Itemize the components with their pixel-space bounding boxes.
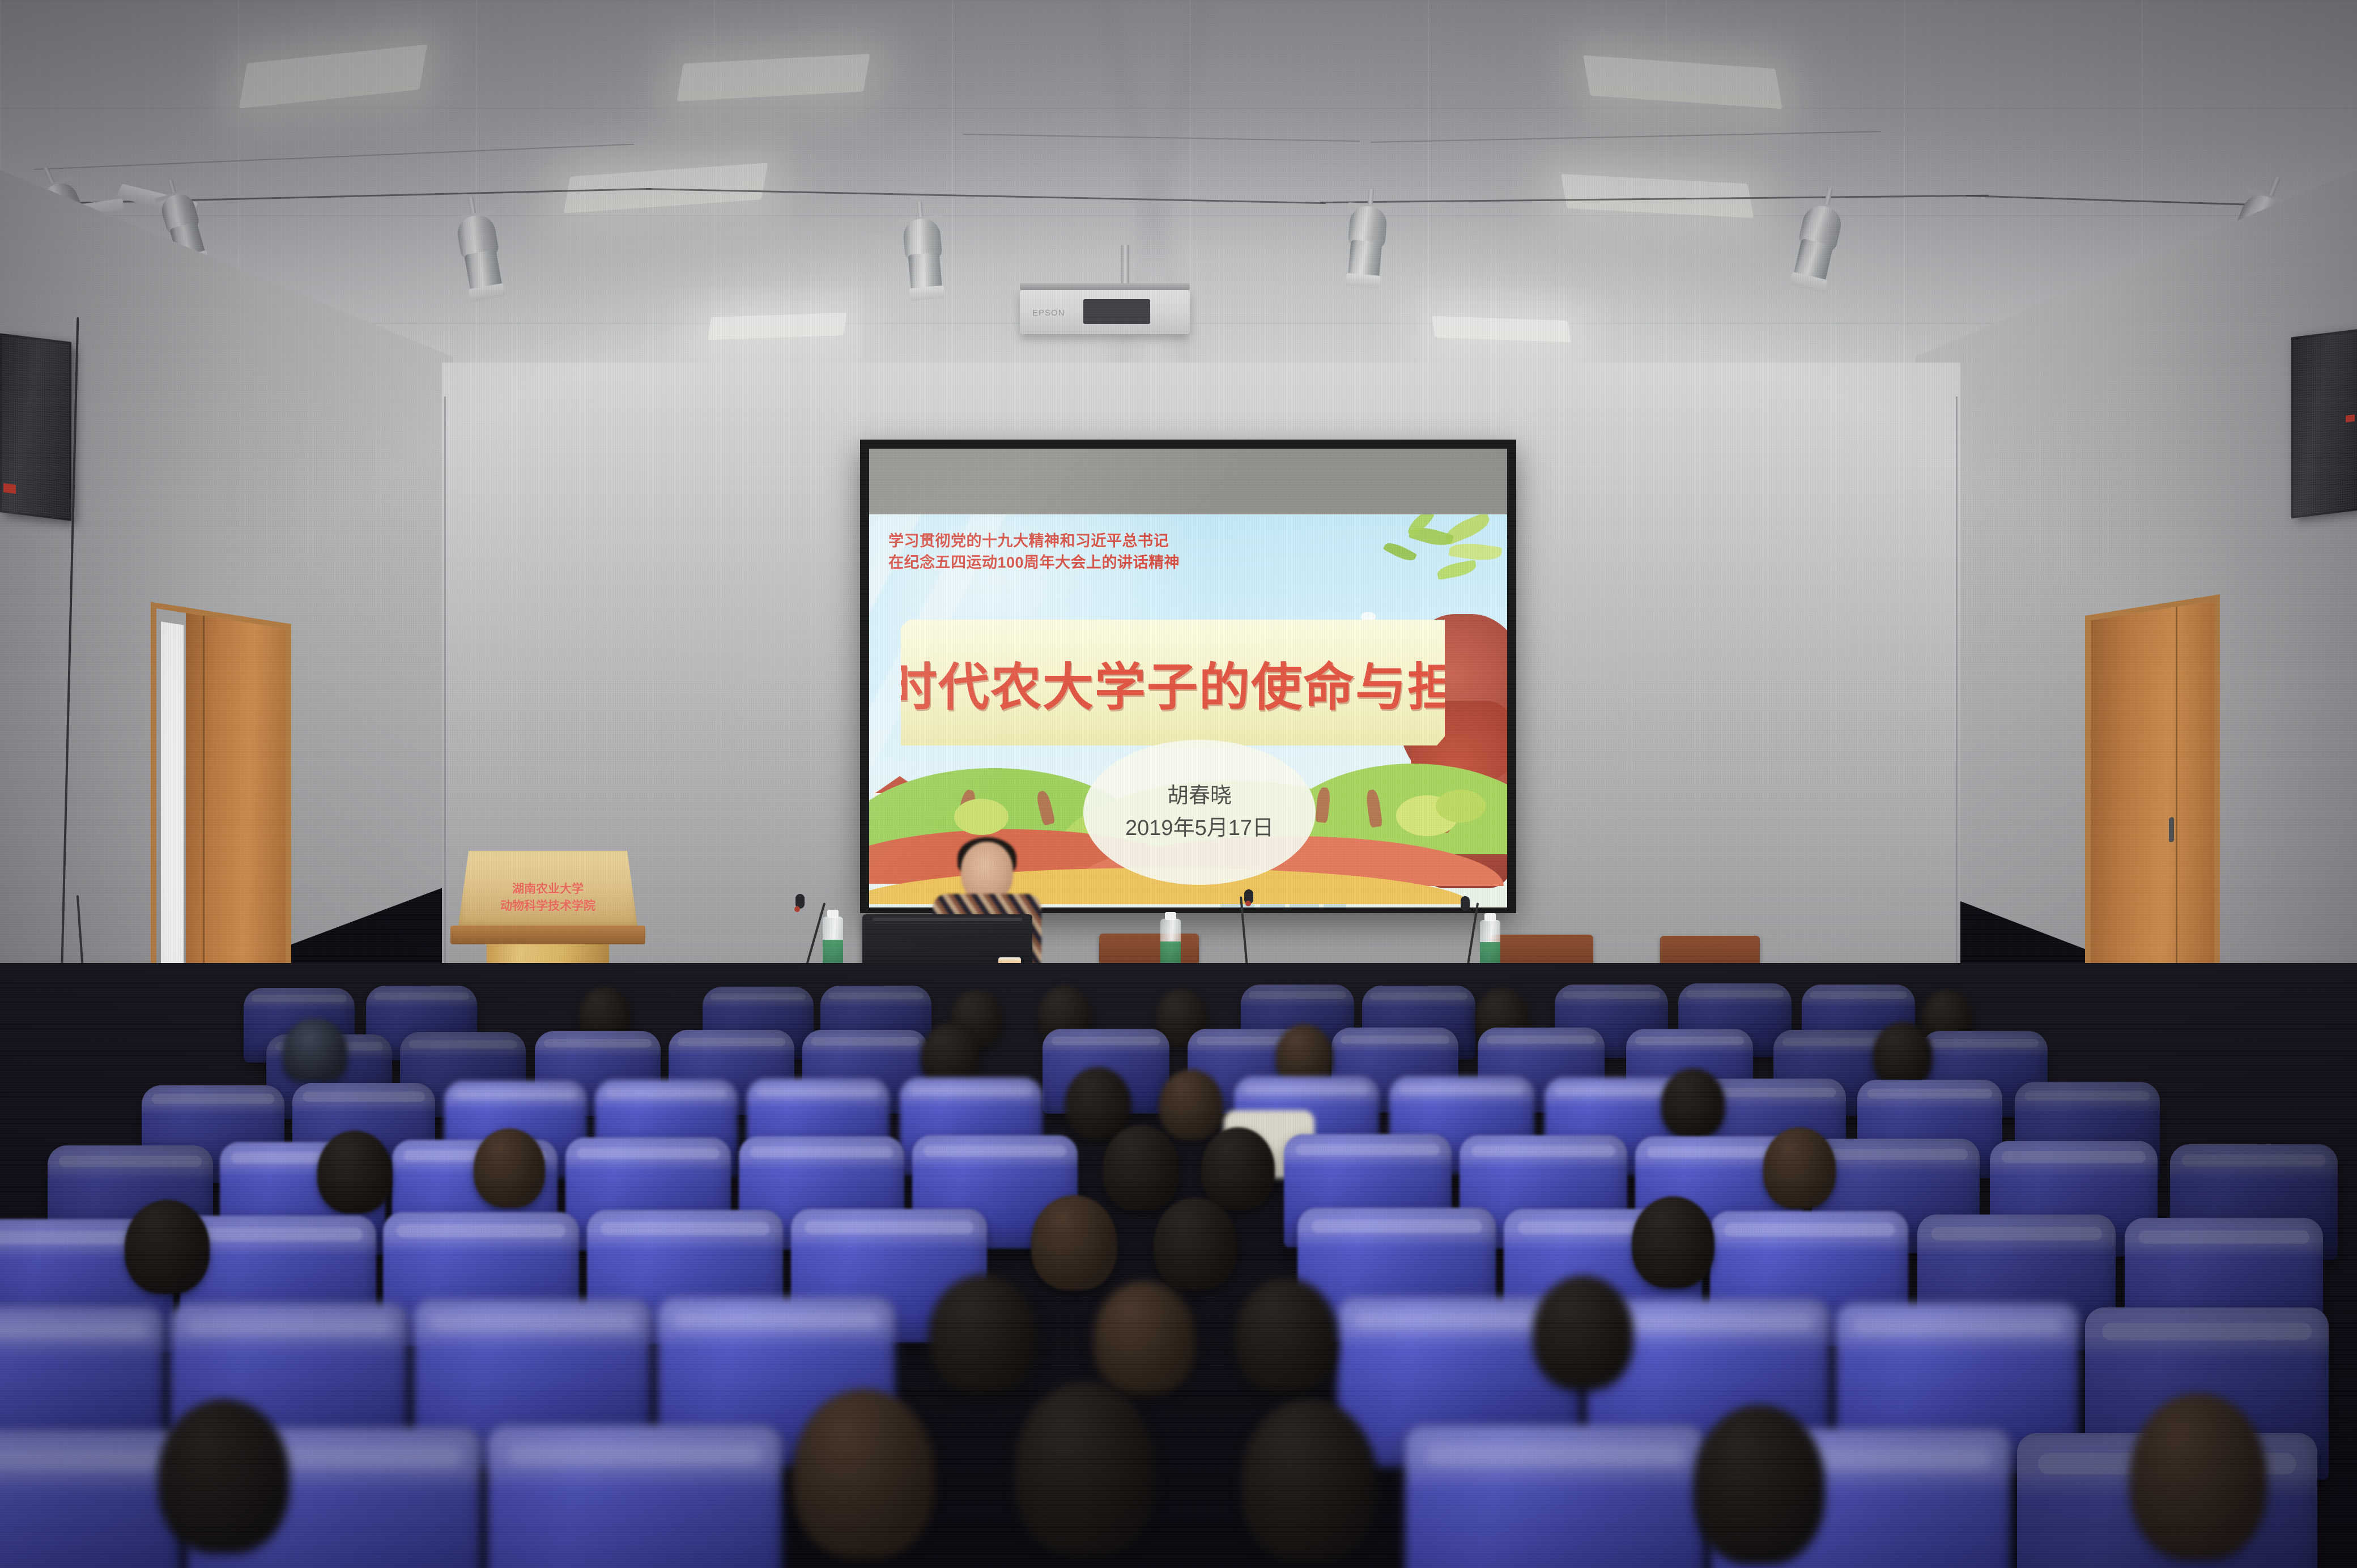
wall-corner-right	[1956, 397, 1958, 1008]
audience-head	[1103, 1125, 1180, 1211]
wall-corner-left	[444, 397, 446, 1008]
audience-head	[1159, 1070, 1223, 1140]
audience-head	[1763, 1127, 1836, 1209]
slide-bird-icon	[1361, 612, 1376, 621]
audience-head	[1533, 1276, 1633, 1389]
audience-head	[317, 1131, 392, 1213]
audience-head	[1154, 1198, 1237, 1290]
slide-presenter-name: 胡春晓	[1167, 780, 1232, 812]
auditorium-photo: EPSON	[0, 0, 2357, 1568]
microphone-head	[1461, 896, 1470, 911]
audience-head	[1235, 1278, 1337, 1394]
left-wall-speaker	[0, 333, 71, 521]
lectern-rim	[450, 926, 645, 944]
presenter-face	[961, 842, 1013, 902]
slide-title: 新时代农大学子的使命与担当	[869, 646, 1507, 719]
audience-head	[474, 1128, 545, 1208]
speaker-brand-badge	[2346, 415, 2355, 423]
audience-head	[1031, 1195, 1117, 1290]
seat[interactable]	[487, 1425, 782, 1568]
audience-head	[929, 1275, 1037, 1395]
audience-head	[1661, 1068, 1725, 1139]
slide-tree	[954, 799, 1009, 835]
bottle-label	[823, 940, 843, 965]
audience-head	[125, 1200, 210, 1294]
screen-surface: 学习贯彻党的十九大精神和习近平总书记 在纪念五四运动100周年大会上的讲话精神 …	[869, 449, 1507, 904]
audience-head	[1694, 1405, 1824, 1563]
right-wall-speaker	[2291, 329, 2357, 519]
audience-head	[1873, 1022, 1932, 1088]
audience-head	[1065, 1067, 1131, 1140]
audience-head	[1632, 1196, 1714, 1288]
audience-head	[2130, 1394, 2266, 1559]
seat[interactable]	[1405, 1425, 1705, 1568]
seat[interactable]	[0, 1430, 181, 1568]
audience-head	[1201, 1127, 1275, 1210]
audience-head	[1094, 1281, 1195, 1395]
right-door-handle[interactable]	[2169, 817, 2174, 842]
audience-head	[1241, 1399, 1377, 1563]
slide-subtitle: 学习贯彻党的十九大精神和习近平总书记 在纪念五四运动100周年大会上的讲话精神	[888, 530, 1180, 574]
slide-presenter-plate: 胡春晓 2019年5月17日	[1083, 740, 1316, 885]
microphone-indicator-light	[794, 906, 800, 912]
slide-leaf-decoration	[1326, 514, 1507, 616]
lectern-inscription: 湖南农业大学 动物科学技术学院	[476, 881, 620, 915]
slide-tree	[1436, 790, 1486, 823]
audience-head	[159, 1399, 289, 1552]
audience-head-with-cap	[283, 1019, 347, 1081]
microphone-indicator-light	[1245, 901, 1251, 906]
slide-presenter-date: 2019年5月17日	[1125, 812, 1274, 845]
audience-head	[793, 1389, 935, 1559]
speaker-brand-badge	[3, 483, 16, 494]
laptop-hinge	[873, 918, 1022, 921]
audience-head	[1014, 1382, 1156, 1558]
slide-title-ribbon: 新时代农大学子的使命与担当	[901, 620, 1445, 745]
